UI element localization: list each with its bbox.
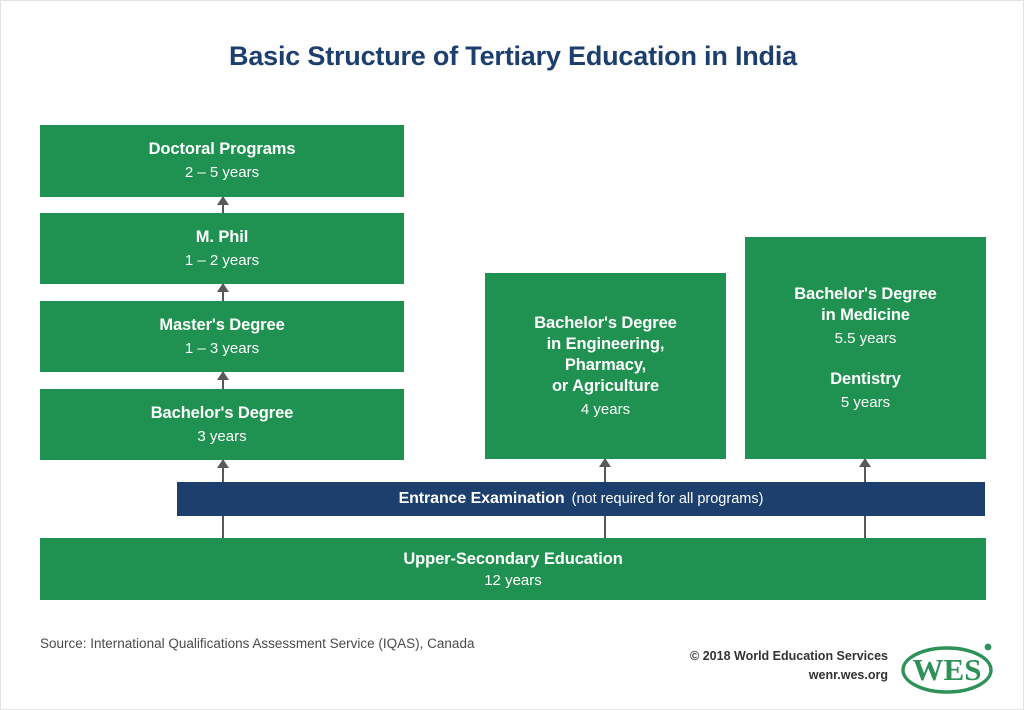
copyright-text: © 2018 World Education Services [690,647,888,666]
box-masters-duration: 1 – 3 years [185,339,259,359]
box-engineering-duration: 4 years [581,400,630,420]
box-doctoral-programs: Doctoral Programs 2 – 5 years [40,125,404,197]
arrow-exam-to-bachelor [216,460,230,483]
connector-upper-to-exam-right [864,515,866,539]
exam-note: (not required for all programs) [572,491,764,507]
website-text: wenr.wes.org [690,666,888,685]
bar-upper-secondary-education: Upper-Secondary Education 12 years [40,538,986,600]
box-bachelor-duration: 3 years [197,427,246,447]
box-bachelor-title: Bachelor's Degree [151,403,294,424]
box-engineering-line2: in Engineering, [547,334,665,355]
box-bachelor-engineering: Bachelor's Degree in Engineering, Pharma… [485,273,726,459]
wes-logo: WES [895,637,1003,699]
box-mphil-duration: 1 – 2 years [185,251,259,271]
upper-secondary-duration: 12 years [484,572,542,589]
box-mphil-title: M. Phil [196,227,248,248]
arrow-bachelor-to-masters [216,372,230,390]
box-medicine-duration: 5.5 years [835,329,897,349]
box-engineering-line3: Pharmacy, [565,355,646,376]
box-medicine-line1: Bachelor's Degree [794,284,937,305]
box-bachelors-degree: Bachelor's Degree 3 years [40,389,404,460]
connector-upper-to-exam-middle [604,515,606,539]
connector-upper-to-exam-left [222,515,224,539]
box-doctoral-duration: 2 – 5 years [185,163,259,183]
box-engineering-line4: or Agriculture [552,376,659,397]
page-title: Basic Structure of Tertiary Education in… [1,41,1024,72]
source-note: Source: International Qualifications Ass… [40,636,474,651]
arrow-exam-to-engineering [598,459,612,483]
box-medicine-line2: in Medicine [821,305,910,326]
bar-entrance-examination: Entrance Examination (not required for a… [177,482,985,516]
diagram-canvas: Basic Structure of Tertiary Education in… [0,0,1024,710]
box-engineering-line1: Bachelor's Degree [534,313,677,334]
exam-label: Entrance Examination [399,490,565,508]
arrow-exam-to-medicine [858,459,872,483]
box-medicine-dentistry: Bachelor's Degree in Medicine 5.5 years … [745,237,986,459]
arrow-masters-to-mphil [216,284,230,302]
box-dentistry-title: Dentistry [830,369,901,390]
box-doctoral-title: Doctoral Programs [149,139,296,160]
upper-secondary-title: Upper-Secondary Education [403,550,622,569]
copyright-block: © 2018 World Education Services wenr.wes… [690,647,888,685]
wes-logo-text: WES [913,652,982,687]
box-masters-degree: Master's Degree 1 – 3 years [40,301,404,372]
box-mphil: M. Phil 1 – 2 years [40,213,404,284]
box-dentistry-duration: 5 years [841,393,890,413]
arrow-mphil-to-doctoral [216,197,230,214]
box-masters-title: Master's Degree [159,315,284,336]
